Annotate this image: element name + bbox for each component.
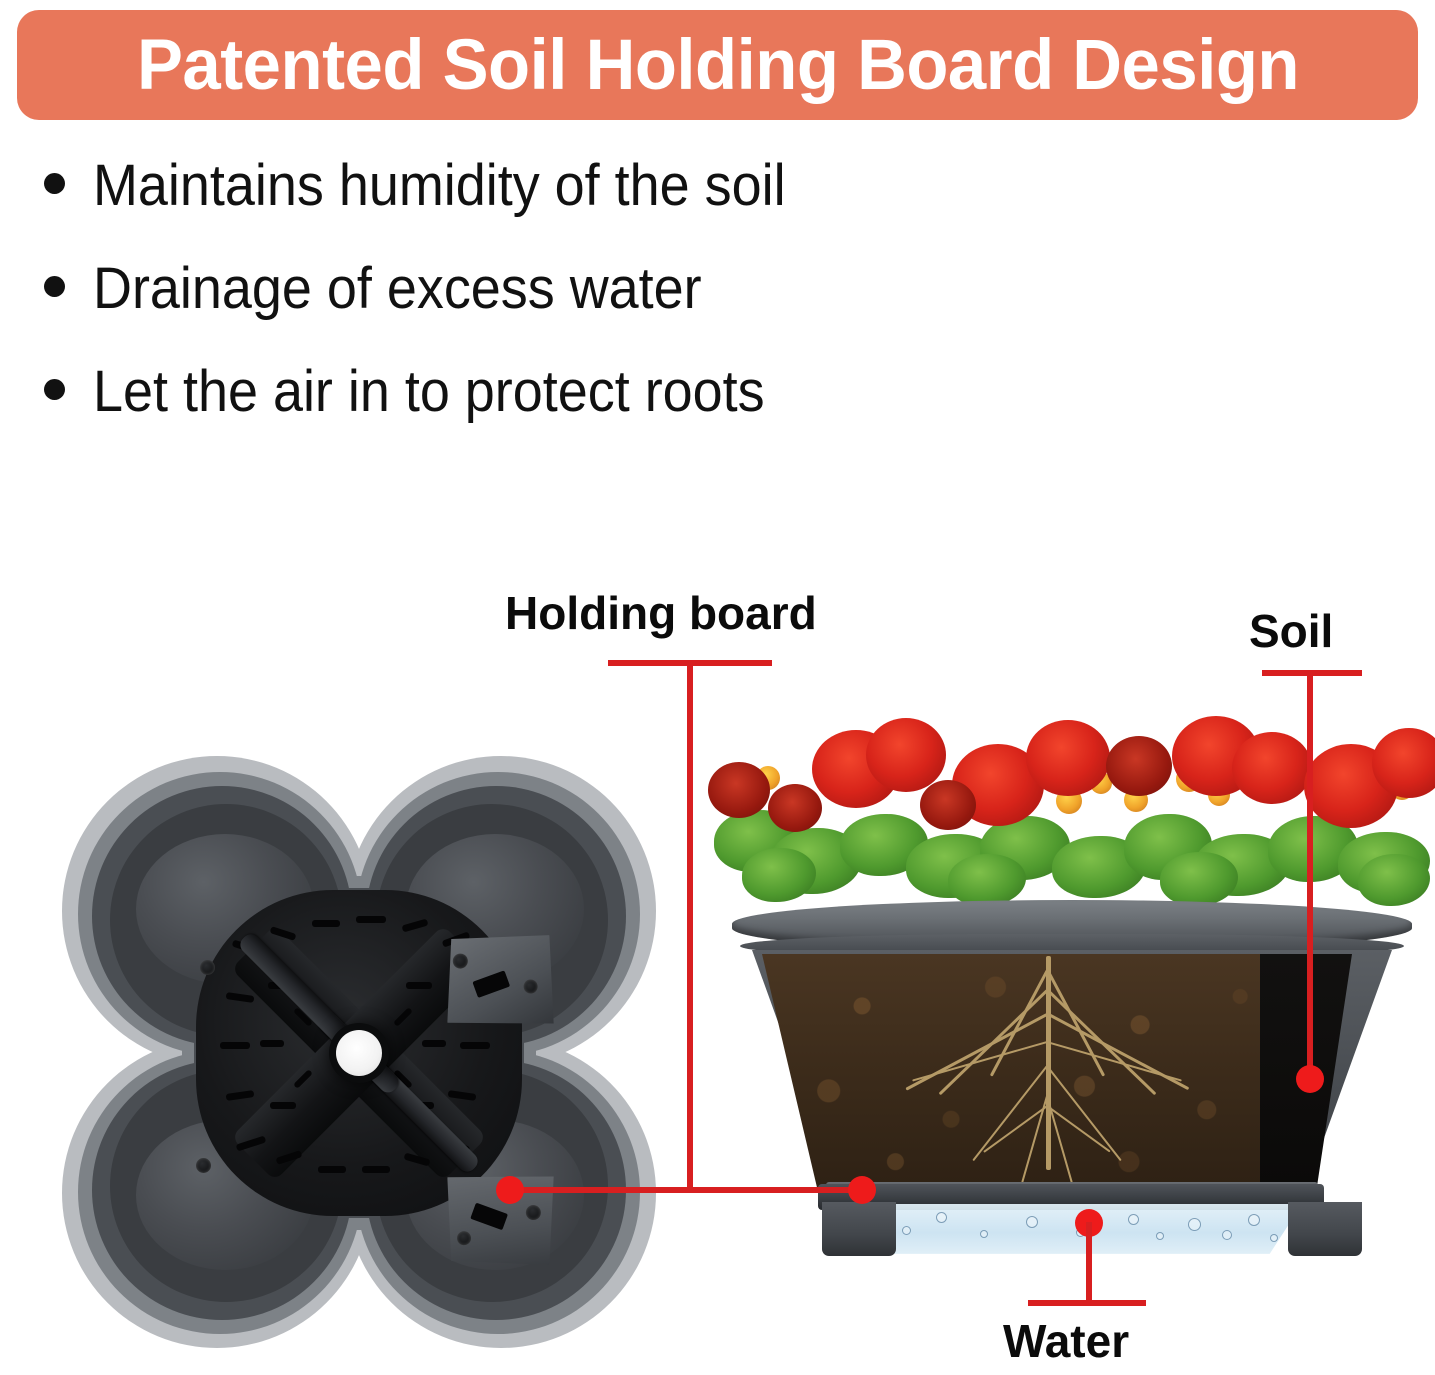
feature-text: Drainage of excess water xyxy=(93,255,702,322)
feature-text: Maintains humidity of the soil xyxy=(93,152,786,219)
pot-foot xyxy=(822,1202,896,1256)
leader-holding-board-stem xyxy=(687,660,693,1192)
planter-cross-section xyxy=(700,688,1435,1288)
bullet-dot-icon xyxy=(44,379,65,400)
root-system xyxy=(898,956,1198,1184)
leader-holding-board-bridge xyxy=(508,1187,864,1193)
feature-list: Maintains humidity of the soil Drainage … xyxy=(44,152,1144,461)
list-item: Let the air in to protect roots xyxy=(44,358,1144,461)
header-banner: Patented Soil Holding Board Design xyxy=(17,10,1418,120)
page-title: Patented Soil Holding Board Design xyxy=(136,25,1298,106)
clover-planter-top-view xyxy=(48,742,670,1362)
pot-foot xyxy=(1288,1202,1362,1256)
drainage-hole xyxy=(336,1030,382,1076)
leader-water-tbar xyxy=(1028,1300,1146,1306)
list-item: Maintains humidity of the soil xyxy=(44,152,1144,255)
leader-dot-soil xyxy=(1296,1065,1324,1093)
chrysanthemum-flowers xyxy=(708,688,1434,910)
bullet-dot-icon xyxy=(44,173,65,194)
leader-dot-holding-board-left xyxy=(496,1176,524,1204)
leader-water-stem xyxy=(1086,1222,1092,1306)
leader-dot-holding-board-right xyxy=(848,1176,876,1204)
board-eyelet xyxy=(200,960,215,975)
leader-soil-stem xyxy=(1307,670,1313,1080)
board-eyelet xyxy=(196,1158,211,1173)
callout-label-soil: Soil xyxy=(1249,604,1333,658)
bullet-dot-icon xyxy=(44,276,65,297)
feature-text: Let the air in to protect roots xyxy=(93,358,765,425)
callout-label-holding-board: Holding board xyxy=(505,586,817,640)
callout-label-water: Water xyxy=(1003,1314,1129,1368)
water-reservoir xyxy=(840,1204,1302,1268)
list-item: Drainage of excess water xyxy=(44,255,1144,358)
infographic-page: Patented Soil Holding Board Design Maint… xyxy=(0,0,1435,1375)
